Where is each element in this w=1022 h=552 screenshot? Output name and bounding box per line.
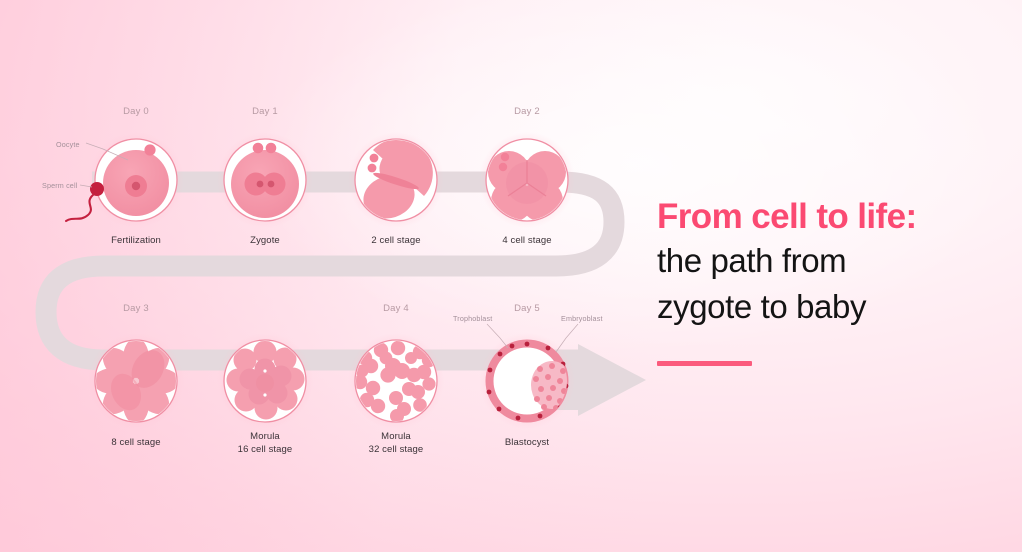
stage-blastocyst (479, 324, 578, 429)
stage-two-cell (348, 132, 444, 228)
caption-eight-cell: 8 cell stage (111, 437, 160, 450)
caption-morula-32-sub: 32 cell stage (369, 444, 424, 457)
day-label-morula-32: Day 4 (383, 303, 409, 314)
headline-secondary-line-1: the path from (657, 238, 1007, 284)
infographic-canvas: Day 0 Day 1 Day 2 Day 3 Day 4 Day 5 Fert… (0, 0, 1022, 552)
polar-body (144, 144, 155, 155)
headline-primary: From cell to life: (657, 196, 1007, 238)
polar-body (253, 143, 264, 154)
caption-morula-16: Morula (250, 431, 280, 444)
day-label-blastocyst: Day 5 (514, 303, 540, 314)
caption-fertilization: Fertilization (111, 235, 161, 248)
day-label-zygote: Day 1 (252, 106, 278, 117)
annotation-embryoblast: Embryoblast (561, 314, 603, 323)
annotation-trophoblast: Trophoblast (453, 314, 492, 323)
stage-zygote (217, 132, 313, 228)
stage-eight-cell (88, 333, 184, 429)
caption-four-cell: 4 cell stage (502, 235, 551, 248)
caption-morula-16-sub: 16 cell stage (238, 444, 293, 457)
stage-morula-16 (217, 333, 313, 429)
stage-morula-32 (348, 333, 444, 429)
day-label-eight-cell: Day 3 (123, 303, 149, 314)
day-label-four-cell: Day 2 (514, 106, 540, 117)
caption-zygote: Zygote (250, 235, 280, 248)
caption-morula-32: Morula (381, 431, 411, 444)
annotation-oocyte: Oocyte (56, 140, 80, 149)
caption-two-cell: 2 cell stage (371, 235, 420, 248)
caption-blastocyst: Blastocyst (505, 437, 549, 450)
stage-four-cell (479, 132, 575, 228)
stage-fertilization (66, 132, 184, 228)
polar-body (266, 143, 277, 154)
annotation-sperm-cell: Sperm cell (42, 181, 77, 190)
headline-secondary-line-2: zygote to baby (657, 284, 1007, 330)
headline-block: From cell to life: the path from zygote … (657, 196, 1007, 330)
day-label-fertilization: Day 0 (123, 106, 149, 117)
headline-underline-accent (657, 361, 752, 366)
